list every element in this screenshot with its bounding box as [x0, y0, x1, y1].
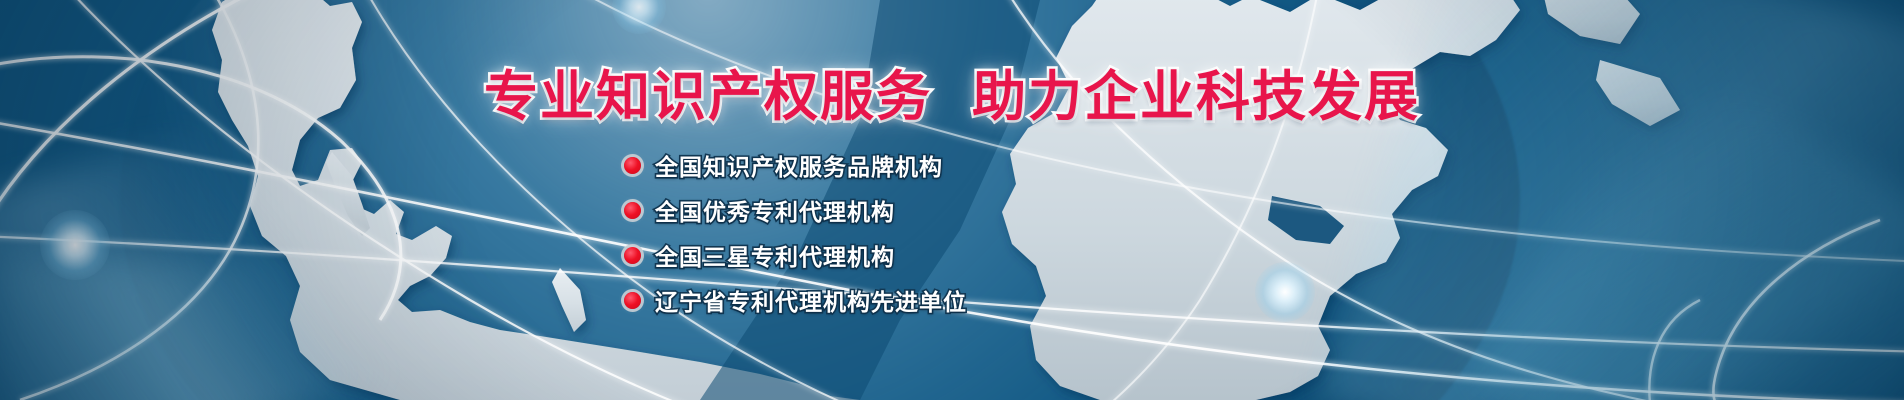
- list-item: 全国知识产权服务品牌机构: [624, 150, 967, 180]
- red-dot-bullet-icon: [624, 202, 641, 219]
- list-item-label: 全国知识产权服务品牌机构: [655, 148, 943, 182]
- promo-banner: 专业知识产权服务助力企业科技发展 全国知识产权服务品牌机构 全国优秀专利代理机构…: [0, 0, 1904, 400]
- credentials-list: 全国知识产权服务品牌机构 全国优秀专利代理机构 全国三星专利代理机构 辽宁省专利…: [624, 150, 967, 315]
- list-item-label: 辽宁省专利代理机构先进单位: [655, 283, 967, 317]
- list-item: 辽宁省专利代理机构先进单位: [624, 285, 967, 315]
- list-item: 全国优秀专利代理机构: [624, 195, 967, 225]
- list-item: 全国三星专利代理机构: [624, 240, 967, 270]
- headline-part-1: 专业知识产权服务: [484, 65, 932, 128]
- banner-headline: 专业知识产权服务助力企业科技发展: [0, 52, 1904, 131]
- banner-content: 专业知识产权服务助力企业科技发展 全国知识产权服务品牌机构 全国优秀专利代理机构…: [0, 0, 1904, 400]
- red-dot-bullet-icon: [624, 247, 641, 264]
- headline-part-2: 助力企业科技发展: [972, 65, 1420, 128]
- list-item-label: 全国优秀专利代理机构: [655, 193, 895, 227]
- list-item-label: 全国三星专利代理机构: [655, 238, 895, 272]
- red-dot-bullet-icon: [624, 292, 641, 309]
- red-dot-bullet-icon: [624, 157, 641, 174]
